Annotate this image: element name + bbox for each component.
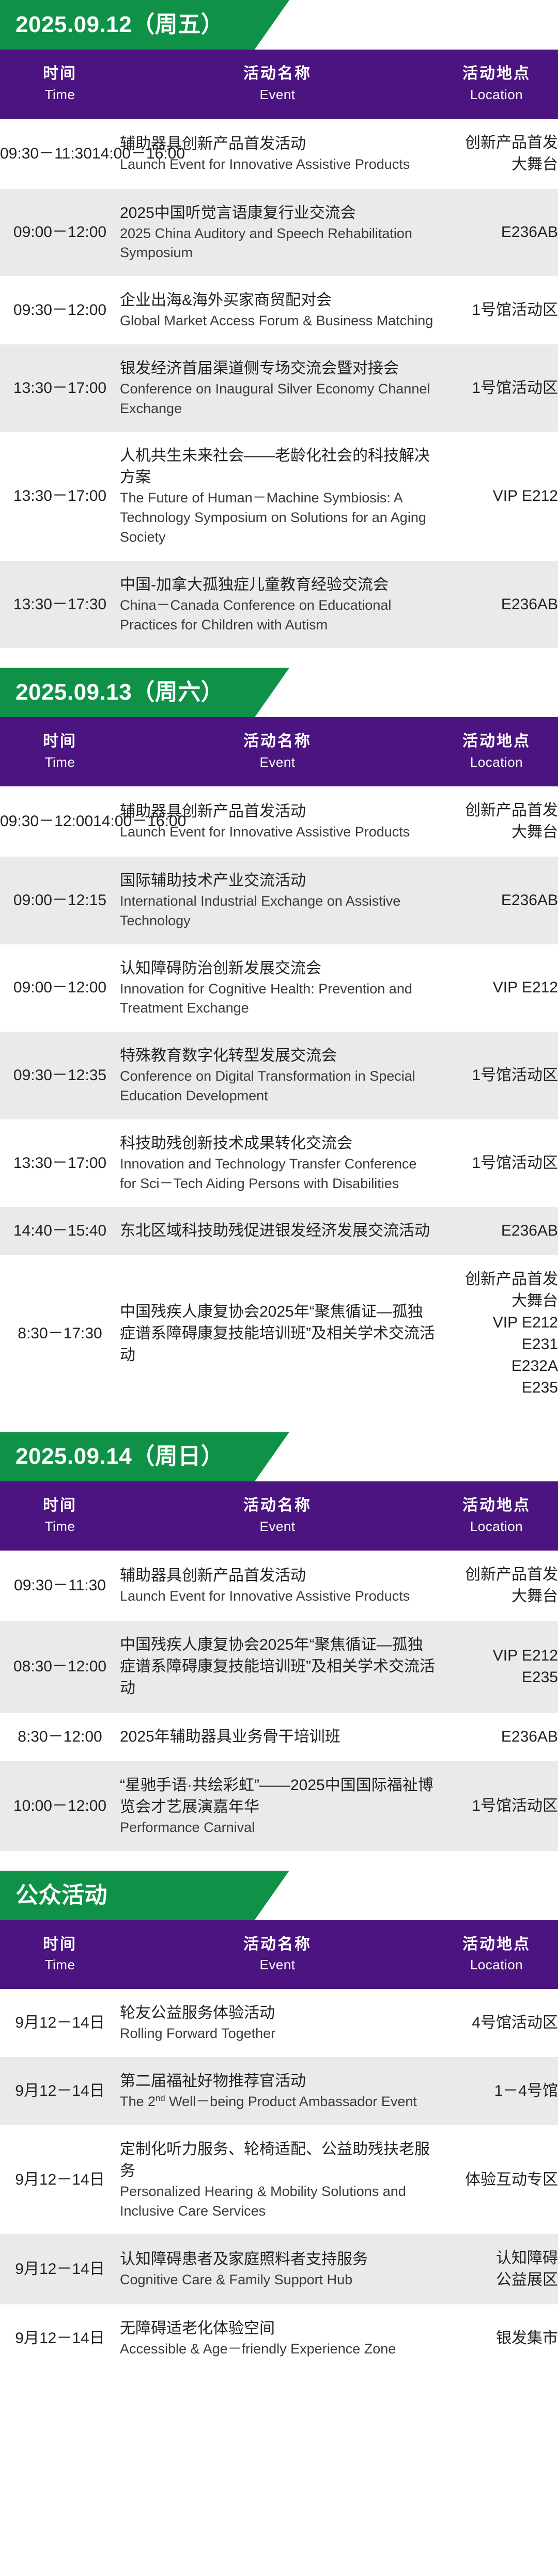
text-line: 创新产品首发 [435, 132, 558, 154]
text-line: 4号馆活动区 [435, 2012, 558, 2034]
table-header-row: 时间Time活动名称Event活动地点Location [0, 1920, 558, 1989]
event-title-en: The Future of Human－Machine Symbiosis: A… [120, 488, 435, 547]
cell-time: 09:30－12:35 [0, 1032, 120, 1119]
column-header-event-cn: 活动名称 [120, 1934, 435, 1956]
text-line: E235 [435, 1377, 558, 1399]
text-line: E235 [435, 1667, 558, 1688]
text-line: 13:30－17:30 [13, 596, 106, 613]
text-line: 09:30－12:00 [13, 302, 106, 319]
text-line: VIP E212 [435, 1645, 558, 1667]
table-row: 9月12－14日无障碍适老化体验空间Accessible & Age－frien… [0, 2304, 558, 2373]
cell-location: E236AB [435, 1207, 558, 1255]
table-row: 09:30－12:0014:00－16:00辅助器具创新产品首发活动Launch… [0, 786, 558, 857]
text-line: 创新产品首发 [435, 1564, 558, 1586]
cell-event: 认知障碍防治创新发展交流会Innovation for Cognitive He… [120, 944, 435, 1032]
cell-time: 9月12－14日 [0, 2304, 120, 2373]
text-line: E236AB [435, 890, 558, 911]
event-title-en: Global Market Access Forum & Business Ma… [120, 311, 435, 331]
text-line: 8:30－17:30 [18, 1325, 102, 1342]
cell-location: 创新产品首发大舞台VIP E212E231E232AE235 [435, 1255, 558, 1412]
table-row: 10:00－12:00“星驰手语·共绘彩虹”——2025中国国际福祉博览会才艺展… [0, 1761, 558, 1851]
text-line: 大舞台 [435, 154, 558, 176]
cell-event: 辅助器具创新产品首发活动Launch Event for Innovative … [120, 786, 435, 857]
column-header-location-cn: 活动地点 [435, 1495, 558, 1517]
column-header-location-cn: 活动地点 [435, 63, 558, 85]
cell-time: 09:30－11:30 [0, 1551, 120, 1621]
cell-event: 中国-加拿大孤独症儿童教育经验交流会China－Canada Conferenc… [120, 561, 435, 649]
column-header-location-cn: 活动地点 [435, 1934, 558, 1956]
table-row: 09:30－12:00企业出海&海外买家商贸配对会Global Market A… [0, 276, 558, 344]
table-header-row: 时间Time活动名称Event活动地点Location [0, 717, 558, 786]
cell-event: 企业出海&海外买家商贸配对会Global Market Access Forum… [120, 276, 435, 344]
column-header-time-en: Time [0, 1517, 120, 1536]
day-banner: 公众活动 [0, 1871, 558, 1920]
cell-location: 体验互动专区 [435, 2125, 558, 2235]
event-title-en: Launch Event for Innovative Assistive Pr… [120, 155, 435, 175]
cell-time: 09:00－12:00 [0, 944, 120, 1032]
text-line: E236AB [435, 222, 558, 243]
column-header-location-en: Location [435, 1955, 558, 1974]
event-title-cn: “星驰手语·共绘彩虹”——2025中国国际福祉博览会才艺展演嘉年华 [120, 1775, 435, 1818]
text-line: 9月12－14日 [15, 2261, 104, 2278]
column-header-time: 时间Time [0, 50, 120, 119]
cell-location: 1号馆活动区 [435, 344, 558, 432]
cell-event: 科技助残创新技术成果转化交流会Innovation and Technology… [120, 1119, 435, 1207]
text-line: 1号馆活动区 [435, 299, 558, 321]
text-line: VIP E212 [435, 1312, 558, 1334]
event-title-en: Accessible & Age－friendly Experience Zon… [120, 2340, 435, 2359]
column-header-time-en: Time [0, 753, 120, 772]
text-line: 体验互动专区 [435, 2169, 558, 2191]
cell-time: 9月12－14日 [0, 2234, 120, 2304]
event-title-en: Innovation and Technology Transfer Confe… [120, 1155, 435, 1194]
table-header-row: 时间Time活动名称Event活动地点Location [0, 1481, 558, 1551]
text-line: 认知障碍 [435, 2248, 558, 2269]
table-row: 13:30－17:00科技助残创新技术成果转化交流会Innovation and… [0, 1119, 558, 1207]
text-line: 1－4号馆 [435, 2080, 558, 2102]
cell-event: 人机共生未来社会——老龄化社会的科技解决方案The Future of Huma… [120, 432, 435, 560]
column-header-location: 活动地点Location [435, 717, 558, 786]
text-line: 08:30－12:00 [13, 1658, 106, 1675]
cell-event: 定制化听力服务、轮椅适配、公益助残扶老服务Personalized Hearin… [120, 2125, 435, 2235]
cell-event: 辅助器具创新产品首发活动Launch Event for Innovative … [120, 119, 435, 189]
cell-location: 1号馆活动区 [435, 1761, 558, 1851]
event-title-en: International Industrial Exchange on Ass… [120, 892, 435, 931]
text-line: E236AB [435, 594, 558, 615]
event-title-cn: 中国残疾人康复协会2025年“聚焦循证—孤独症谱系障碍康复技能培训班”及相关学术… [120, 1634, 435, 1699]
text-line: 大舞台 [435, 1586, 558, 1607]
cell-event: 国际辅助技术产业交流活动International Industrial Exc… [120, 857, 435, 944]
column-header-time: 时间Time [0, 1481, 120, 1551]
text-line: 大舞台 [435, 1290, 558, 1312]
column-header-event-en: Event [120, 1517, 435, 1536]
event-title-cn: 银发经济首届渠道侧专场交流会暨对接会 [120, 358, 435, 380]
text-line: 09:00－12:15 [13, 892, 106, 909]
cell-event: 第二届福祉好物推荐官活动The 2nd Well－being Product A… [120, 2057, 435, 2125]
event-title-en: Personalized Hearing & Mobility Solution… [120, 2182, 435, 2221]
text-line: VIP E212 [435, 977, 558, 999]
cell-time: 9月12－14日 [0, 2125, 120, 2235]
text-line: 14:40－15:40 [13, 1222, 106, 1239]
column-header-time: 时间Time [0, 1920, 120, 1989]
column-header-event-en: Event [120, 753, 435, 772]
event-title-cn: 第二届福祉好物推荐官活动 [120, 2071, 435, 2092]
text-line: 1号馆活动区 [435, 1065, 558, 1086]
column-header-event: 活动名称Event [120, 1481, 435, 1551]
schedule-section: 公众活动时间Time活动名称Event活动地点Location9月12－14日轮… [0, 1871, 558, 2373]
cell-location: 1－4号馆 [435, 2057, 558, 2125]
text-line: 银发集市 [435, 2328, 558, 2349]
text-line: 09:30－12:35 [13, 1067, 106, 1084]
text-line: 13:30－17:00 [13, 380, 106, 397]
cell-location: 1号馆活动区 [435, 1119, 558, 1207]
cell-location: 创新产品首发大舞台 [435, 786, 558, 857]
column-header-location-en: Location [435, 85, 558, 104]
cell-event: 东北区域科技助残促进银发经济发展交流活动 [120, 1207, 435, 1255]
cell-location: E236AB [435, 189, 558, 277]
cell-time: 10:00－12:00 [0, 1761, 120, 1851]
cell-location: VIP E212 [435, 432, 558, 560]
column-header-event-en: Event [120, 1955, 435, 1974]
event-title-cn: 企业出海&海外买家商贸配对会 [120, 290, 435, 311]
day-banner-label: 公众活动 [0, 1871, 107, 1920]
text-line: 13:30－17:00 [13, 1155, 106, 1172]
event-title-cn: 辅助器具创新产品首发活动 [120, 801, 435, 823]
schedule-table: 时间Time活动名称Event活动地点Location09:30－11:30辅助… [0, 1481, 558, 1851]
event-title-cn: 2025中国听觉言语康复行业交流会 [120, 202, 435, 224]
table-row: 09:00－12:002025中国听觉言语康复行业交流会2025 China A… [0, 189, 558, 277]
column-header-time-cn: 时间 [0, 1495, 120, 1517]
table-row: 13:30－17:30中国-加拿大孤独症儿童教育经验交流会China－Canad… [0, 561, 558, 649]
cell-time: 14:40－15:40 [0, 1207, 120, 1255]
cell-time: 8:30－12:00 [0, 1713, 120, 1761]
cell-location: E236AB [435, 857, 558, 944]
cell-time: 08:30－12:00 [0, 1621, 120, 1713]
column-header-time-cn: 时间 [0, 63, 120, 85]
column-header-event-cn: 活动名称 [120, 1495, 435, 1517]
cell-time: 8:30－17:30 [0, 1255, 120, 1412]
table-row: 9月12－14日轮友公益服务体验活动Rolling Forward Togeth… [0, 1989, 558, 2057]
cell-event: 特殊教育数字化转型发展交流会Conference on Digital Tran… [120, 1032, 435, 1119]
text-line: 创新产品首发 [435, 800, 558, 821]
cell-event: 2025年辅助器具业务骨干培训班 [120, 1713, 435, 1761]
text-line: 9月12－14日 [15, 2014, 104, 2031]
cell-time: 09:30－12:00 [0, 276, 120, 344]
text-line: 9月12－14日 [15, 2171, 104, 2188]
text-line: 公益展区 [435, 2269, 558, 2291]
event-title-cn: 特殊教育数字化转型发展交流会 [120, 1045, 435, 1067]
cell-time: 13:30－17:00 [0, 344, 120, 432]
day-banner: 2025.09.12（周五） [0, 0, 558, 50]
text-line: 9月12－14日 [15, 2330, 104, 2347]
text-line: 大舞台 [435, 821, 558, 843]
column-header-location: 活动地点Location [435, 1481, 558, 1551]
column-header-location: 活动地点Location [435, 50, 558, 119]
schedule-table: 时间Time活动名称Event活动地点Location09:30－11:3014… [0, 50, 558, 648]
cell-location: E236AB [435, 1713, 558, 1761]
cell-time: 09:00－12:15 [0, 857, 120, 944]
event-title-cn: 国际辅助技术产业交流活动 [120, 870, 435, 892]
text-line: E232A [435, 1355, 558, 1377]
text-line: 13:30－17:00 [13, 487, 106, 504]
table-row: 9月12－14日第二届福祉好物推荐官活动The 2nd Well－being P… [0, 2057, 558, 2125]
text-line: 09:00－12:00 [13, 979, 106, 996]
text-line: 09:30－12:00 [0, 813, 93, 830]
text-line: 1号馆活动区 [435, 1152, 558, 1174]
table-row: 09:30－11:3014:00－16:00辅助器具创新产品首发活动Launch… [0, 119, 558, 189]
event-title-cn: 2025年辅助器具业务骨干培训班 [120, 1726, 435, 1748]
schedule-table: 时间Time活动名称Event活动地点Location09:30－12:0014… [0, 717, 558, 1412]
event-title-en: Performance Carnival [120, 1818, 435, 1838]
event-title-en: Conference on Digital Transformation in … [120, 1067, 435, 1106]
cell-location: 创新产品首发大舞台 [435, 119, 558, 189]
event-title-en: China－Canada Conference on Educational P… [120, 596, 435, 635]
cell-event: 2025中国听觉言语康复行业交流会2025 China Auditory and… [120, 189, 435, 277]
text-line: 9月12－14日 [15, 2082, 104, 2099]
column-header-time-en: Time [0, 85, 120, 104]
text-line: 1号馆活动区 [435, 377, 558, 399]
event-title-cn: 中国-加拿大孤独症儿童教育经验交流会 [120, 574, 435, 596]
text-line: 09:30－11:30 [14, 1577, 106, 1594]
cell-time: 9月12－14日 [0, 2057, 120, 2125]
text-line: E236AB [435, 1220, 558, 1242]
cell-event: “星驰手语·共绘彩虹”——2025中国国际福祉博览会才艺展演嘉年华Perform… [120, 1761, 435, 1851]
event-title-cn: 东北区域科技助残促进银发经济发展交流活动 [120, 1220, 435, 1242]
table-row: 08:30－12:00中国残疾人康复协会2025年“聚焦循证—孤独症谱系障碍康复… [0, 1621, 558, 1713]
table-row: 13:30－17:00人机共生未来社会——老龄化社会的科技解决方案The Fut… [0, 432, 558, 560]
column-header-event: 活动名称Event [120, 50, 435, 119]
day-banner-label: 2025.09.12（周五） [0, 0, 224, 50]
table-row: 09:30－12:35特殊教育数字化转型发展交流会Conference on D… [0, 1032, 558, 1119]
cell-event: 中国残疾人康复协会2025年“聚焦循证—孤独症谱系障碍康复技能培训班”及相关学术… [120, 1255, 435, 1412]
cell-location: 创新产品首发大舞台 [435, 1551, 558, 1621]
schedule-section: 2025.09.12（周五）时间Time活动名称Event活动地点Locatio… [0, 0, 558, 648]
event-title-cn: 人机共生未来社会——老龄化社会的科技解决方案 [120, 445, 435, 488]
cell-event: 中国残疾人康复协会2025年“聚焦循证—孤独症谱系障碍康复技能培训班”及相关学术… [120, 1621, 435, 1713]
cell-location: E236AB [435, 561, 558, 649]
event-title-cn: 无障碍适老化体验空间 [120, 2318, 435, 2340]
event-title-en: The 2nd Well－being Product Ambassador Ev… [120, 2092, 435, 2112]
table-row: 09:30－11:30辅助器具创新产品首发活动Launch Event for … [0, 1551, 558, 1621]
event-title-cn: 定制化听力服务、轮椅适配、公益助残扶老服务 [120, 2139, 435, 2182]
table-row: 8:30－17:30中国残疾人康复协会2025年“聚焦循证—孤独症谱系障碍康复技… [0, 1255, 558, 1412]
text-line: E231 [435, 1334, 558, 1355]
text-line: 1号馆活动区 [435, 1795, 558, 1817]
column-header-event: 活动名称Event [120, 1920, 435, 1989]
cell-location: VIP E212 [435, 944, 558, 1032]
column-header-time: 时间Time [0, 717, 120, 786]
table-row: 13:30－17:00银发经济首届渠道侧专场交流会暨对接会Conference … [0, 344, 558, 432]
text-line: 10:00－12:00 [13, 1797, 106, 1814]
event-title-en: Cognitive Care & Family Support Hub [120, 2270, 435, 2290]
cell-location: 银发集市 [435, 2304, 558, 2373]
column-header-location-en: Location [435, 753, 558, 772]
event-title-cn: 认知障碍患者及家庭照料者支持服务 [120, 2249, 435, 2270]
column-header-location: 活动地点Location [435, 1920, 558, 1989]
cell-event: 辅助器具创新产品首发活动Launch Event for Innovative … [120, 1551, 435, 1621]
event-title-en: Conference on Inaugural Silver Economy C… [120, 380, 435, 419]
cell-time: 09:00－12:00 [0, 189, 120, 277]
cell-location: 1号馆活动区 [435, 1032, 558, 1119]
day-banner: 2025.09.13（周六） [0, 668, 558, 717]
cell-location: 认知障碍公益展区 [435, 2234, 558, 2304]
column-header-time-cn: 时间 [0, 731, 120, 753]
event-title-cn: 辅助器具创新产品首发活动 [120, 133, 435, 155]
column-header-time-en: Time [0, 1955, 120, 1974]
event-title-cn: 科技助残创新技术成果转化交流会 [120, 1133, 435, 1155]
event-title-en: Rolling Forward Together [120, 2024, 435, 2044]
cell-event: 银发经济首届渠道侧专场交流会暨对接会Conference on Inaugura… [120, 344, 435, 432]
day-banner-label: 2025.09.13（周六） [0, 668, 224, 717]
cell-time: 13:30－17:30 [0, 561, 120, 649]
day-banner-label: 2025.09.14（周日） [0, 1432, 224, 1481]
event-title-cn: 中国残疾人康复协会2025年“聚焦循证—孤独症谱系障碍康复技能培训班”及相关学术… [120, 1301, 435, 1366]
event-title-en: Innovation for Cognitive Health: Prevent… [120, 979, 435, 1019]
cell-event: 轮友公益服务体验活动Rolling Forward Together [120, 1989, 435, 2057]
cell-location: 1号馆活动区 [435, 276, 558, 344]
column-header-location-en: Location [435, 1517, 558, 1536]
cell-event: 无障碍适老化体验空间Accessible & Age－friendly Expe… [120, 2304, 435, 2373]
table-row: 8:30－12:002025年辅助器具业务骨干培训班E236AB [0, 1713, 558, 1761]
cell-time: 09:30－11:3014:00－16:00 [0, 119, 120, 189]
event-title-cn: 认知障碍防治创新发展交流会 [120, 958, 435, 979]
event-title-cn: 辅助器具创新产品首发活动 [120, 1565, 435, 1587]
column-header-event: 活动名称Event [120, 717, 435, 786]
cell-time: 9月12－14日 [0, 1989, 120, 2057]
text-line: VIP E212 [435, 485, 558, 507]
table-row: 14:40－15:40东北区域科技助残促进银发经济发展交流活动E236AB [0, 1207, 558, 1255]
schedule-table: 时间Time活动名称Event活动地点Location9月12－14日轮友公益服… [0, 1920, 558, 2373]
column-header-event-cn: 活动名称 [120, 63, 435, 85]
column-header-event-en: Event [120, 85, 435, 104]
table-row: 09:00－12:00认知障碍防治创新发展交流会Innovation for C… [0, 944, 558, 1032]
table-row: 9月12－14日认知障碍患者及家庭照料者支持服务Cognitive Care &… [0, 2234, 558, 2304]
text-line: 8:30－12:00 [18, 1728, 102, 1745]
table-header-row: 时间Time活动名称Event活动地点Location [0, 50, 558, 119]
event-title-cn: 轮友公益服务体验活动 [120, 2002, 435, 2024]
text-line: 09:00－12:00 [13, 224, 106, 241]
cell-time: 09:30－12:0014:00－16:00 [0, 786, 120, 857]
schedule-section: 2025.09.14（周日）时间Time活动名称Event活动地点Locatio… [0, 1432, 558, 1851]
cell-event: 认知障碍患者及家庭照料者支持服务Cognitive Care & Family … [120, 2234, 435, 2304]
cell-time: 13:30－17:00 [0, 432, 120, 560]
column-header-time-cn: 时间 [0, 1934, 120, 1956]
event-title-en: Launch Event for Innovative Assistive Pr… [120, 1587, 435, 1606]
table-row: 09:00－12:15国际辅助技术产业交流活动International Ind… [0, 857, 558, 944]
text-line: 09:30－11:30 [0, 145, 92, 162]
schedule-page: 2025.09.12（周五）时间Time活动名称Event活动地点Locatio… [0, 0, 558, 2373]
day-banner: 2025.09.14（周日） [0, 1432, 558, 1481]
schedule-section: 2025.09.13（周六）时间Time活动名称Event活动地点Locatio… [0, 668, 558, 1412]
column-header-event-cn: 活动名称 [120, 731, 435, 753]
column-header-location-cn: 活动地点 [435, 731, 558, 753]
cell-location: 4号馆活动区 [435, 1989, 558, 2057]
table-row: 9月12－14日定制化听力服务、轮椅适配、公益助残扶老服务Personalize… [0, 2125, 558, 2235]
event-title-en: Launch Event for Innovative Assistive Pr… [120, 823, 435, 842]
cell-location: VIP E212E235 [435, 1621, 558, 1713]
event-title-en: 2025 China Auditory and Speech Rehabilit… [120, 224, 435, 263]
text-line: 创新产品首发 [435, 1269, 558, 1290]
text-line: E236AB [435, 1726, 558, 1748]
cell-time: 13:30－17:00 [0, 1119, 120, 1207]
